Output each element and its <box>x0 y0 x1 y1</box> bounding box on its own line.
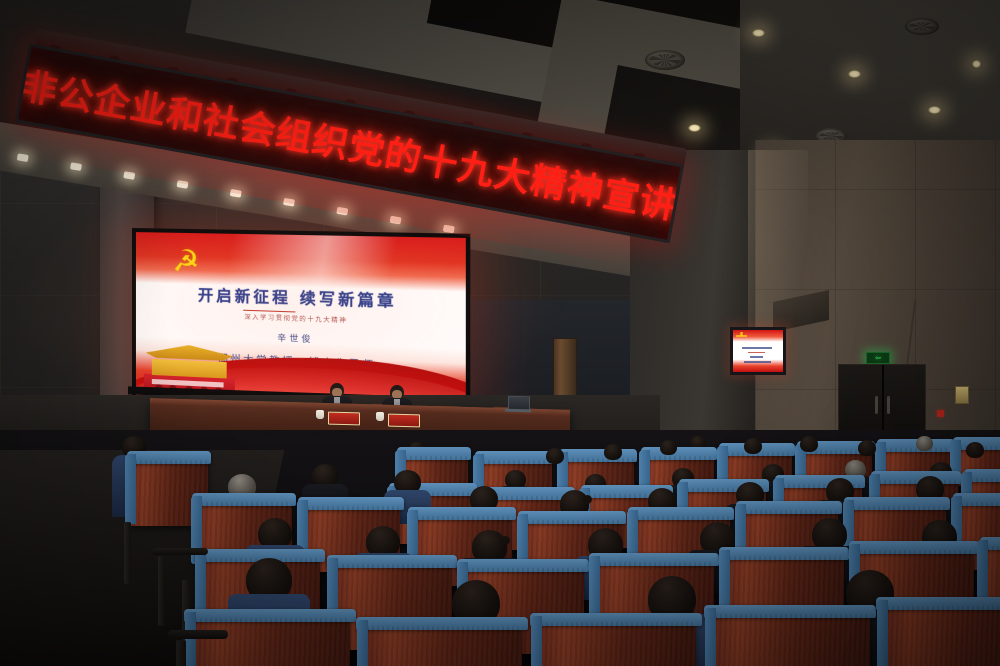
laptop[interactable] <box>505 396 531 413</box>
wall-notice-sign <box>955 386 969 404</box>
monitor-slide-mirror <box>733 330 783 372</box>
monitor-text-line <box>750 356 763 358</box>
name-placard <box>328 412 360 426</box>
person-head <box>916 436 933 451</box>
ceiling-downlight <box>688 124 701 132</box>
ceiling-downlight <box>972 60 981 68</box>
seat-armrest <box>168 630 228 639</box>
ceiling-downlight <box>928 106 941 114</box>
hammer-and-sickle-icon <box>736 332 747 340</box>
teacup <box>316 410 324 419</box>
seat-leg <box>158 556 165 626</box>
monitor-rule-line <box>748 352 765 354</box>
ceiling-downlight <box>848 70 861 78</box>
person-head <box>744 438 762 454</box>
fire-alarm-icon[interactable] <box>937 410 944 417</box>
exit-sign: ⇦ <box>866 352 890 364</box>
monitor-text-line <box>744 361 771 363</box>
hammer-and-sickle-icon: ☭ <box>159 241 213 285</box>
auditorium-seat[interactable] <box>190 618 350 666</box>
person-head <box>800 436 818 452</box>
ceiling-downlight <box>752 29 765 37</box>
seat-armrest <box>152 548 208 555</box>
audience-seating-area <box>0 430 1000 666</box>
auditorium-photo: ⇦ ☭ 开启新征程 续写新篇章 深入学习贯彻党的十九大精神 辛世俊 郑州大学教授… <box>0 0 1000 666</box>
air-vent-icon <box>645 50 685 70</box>
auditorium-seat[interactable] <box>362 626 522 666</box>
teacup <box>376 412 384 421</box>
person-head <box>858 440 876 456</box>
person-head <box>660 440 677 455</box>
auditorium-seat[interactable] <box>882 606 1000 666</box>
exit-arrow-icon: ⇦ <box>875 355 881 362</box>
wall-mounted-monitor <box>730 327 786 375</box>
person-head <box>604 444 622 460</box>
auditorium-seat[interactable] <box>536 622 696 666</box>
name-placard <box>388 414 420 428</box>
person-head <box>546 448 564 464</box>
seat-leg <box>176 640 186 666</box>
monitor-text-line <box>742 347 772 349</box>
auditorium-seat[interactable] <box>710 614 870 666</box>
door-handle-icon[interactable] <box>875 396 878 414</box>
person-head <box>966 442 984 458</box>
door-handle-icon[interactable] <box>887 396 890 414</box>
air-vent-icon <box>905 18 939 35</box>
seat-leg <box>124 522 131 584</box>
